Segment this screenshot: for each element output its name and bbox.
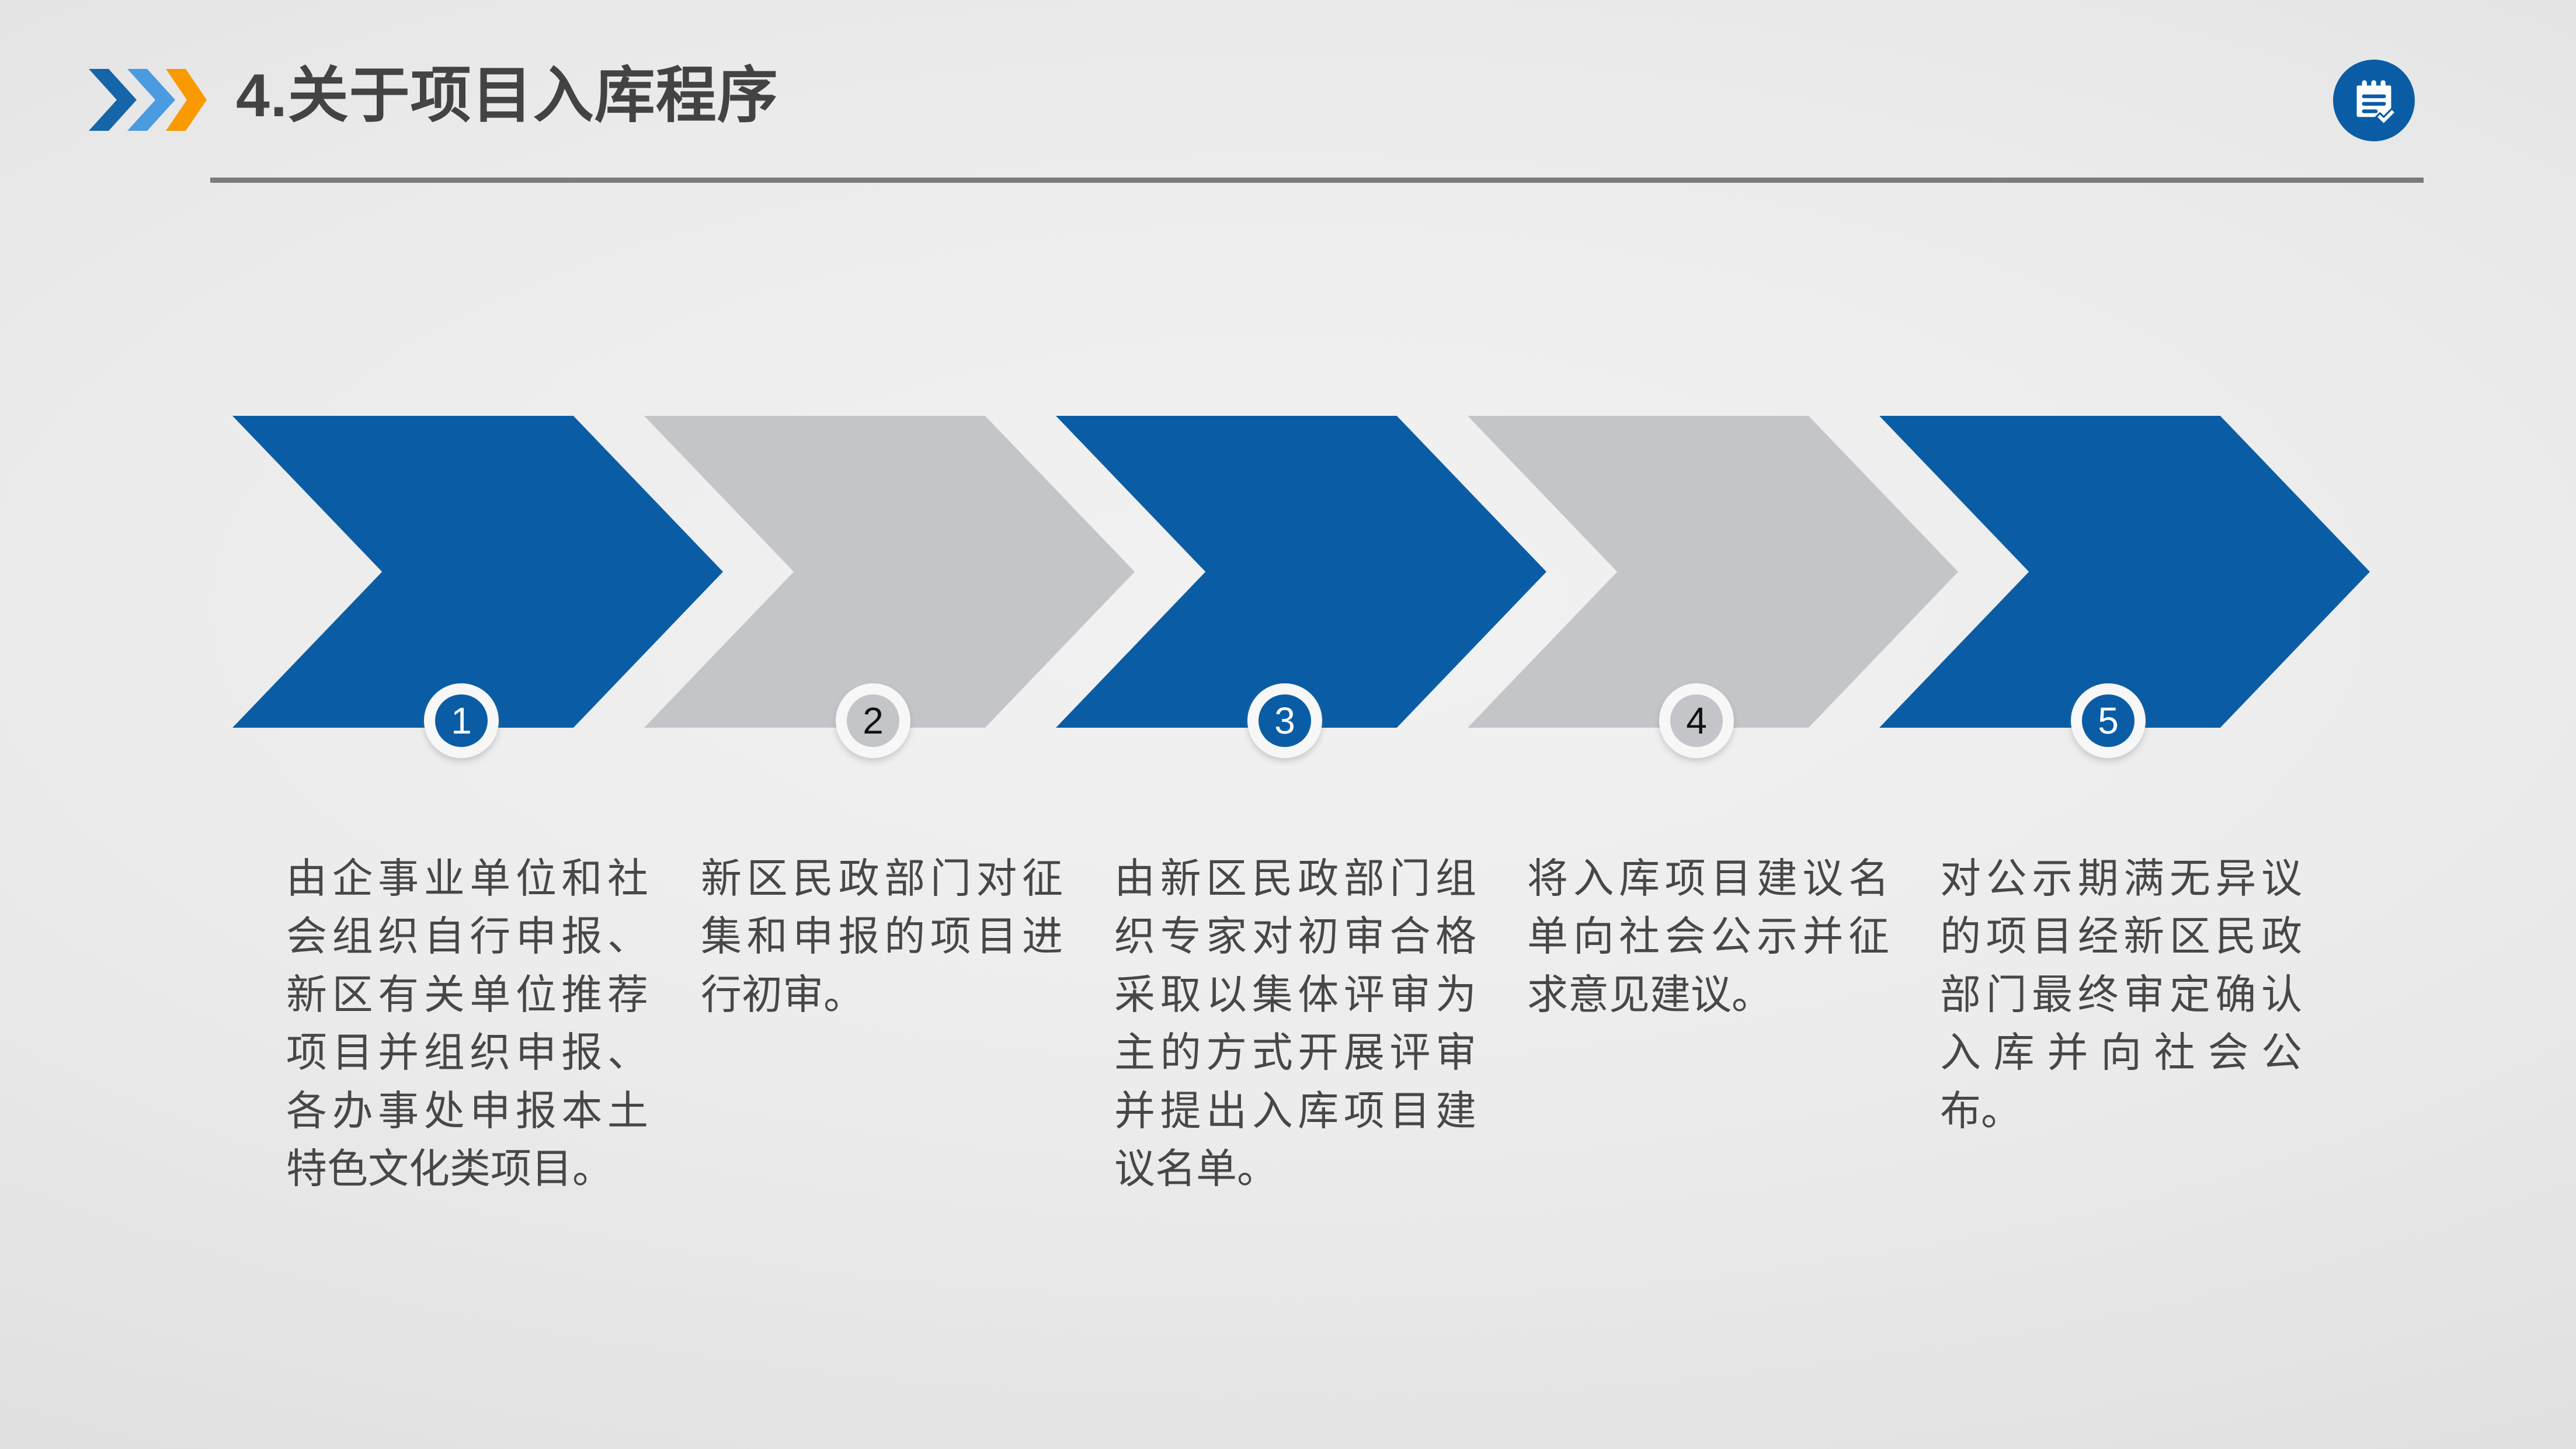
chevron-shape-5 bbox=[1879, 416, 2370, 728]
clipboard-check-icon bbox=[2333, 60, 2415, 141]
step-number-badge-4: 4 bbox=[1659, 683, 1734, 758]
step-number-badge-1: 1 bbox=[424, 683, 499, 758]
step-number-badge-2: 2 bbox=[836, 683, 910, 758]
flow-step-5[interactable]: 5 bbox=[1879, 403, 2370, 730]
step-description-5: 对公示期满无异议的项目经新区民政部门最终审定确认入库并向社会公布。 bbox=[1940, 850, 2302, 1140]
step-number-badge-3: 3 bbox=[1247, 683, 1322, 758]
triple-chevron-icon bbox=[86, 65, 209, 134]
slide-canvas: 4.关于项目入库程序 1 bbox=[0, 0, 2576, 1449]
header-divider bbox=[210, 178, 2424, 183]
step-description-1: 由企事业单位和社会组织自行申报、新区有关单位推荐项目并组织申报、各办事处申报本土… bbox=[286, 850, 648, 1198]
page-title: 4.关于项目入库程序 bbox=[236, 61, 778, 131]
step-description-4: 将入库项目建议名单向社会公示并征求意见建议。 bbox=[1527, 850, 1889, 1024]
step-description-2: 新区民政部门对征集和申报的项目进行初审。 bbox=[701, 850, 1063, 1024]
process-flow: 1 2 3 4 5 bbox=[0, 403, 2576, 742]
step-description-3: 由新区民政部门组织专家对初审合格采取以集体评审为主的方式开展评审并提出入库项目建… bbox=[1114, 850, 1476, 1198]
step-number-badge-5: 5 bbox=[2071, 683, 2146, 758]
slide-header: 4.关于项目入库程序 bbox=[0, 0, 2576, 193]
